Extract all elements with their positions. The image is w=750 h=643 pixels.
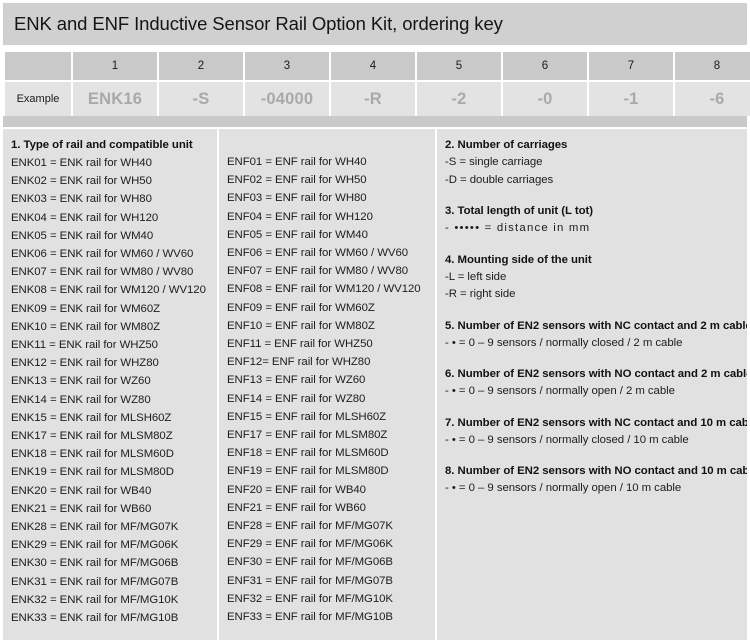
- section-separator-band: [3, 116, 747, 127]
- panel-rail-type-enf: ENF01 = ENF rail for WH40ENF02 = ENF rai…: [219, 129, 435, 640]
- section-4-item-2: -R = right side: [445, 286, 747, 304]
- page-title: ENK and ENF Inductive Sensor Rail Option…: [3, 13, 503, 35]
- enk-rail-item: ENK17 = ENK rail for MLSM80Z: [11, 427, 217, 445]
- enk-rail-item: ENK29 = ENK rail for MF/MG06K: [11, 536, 217, 554]
- enk-rail-item: ENK03 = ENK rail for WH80: [11, 190, 217, 208]
- enk-rail-item: ENK13 = ENK rail for WZ60: [11, 372, 217, 390]
- enk-rail-item: ENK08 = ENK rail for WM120 / WV120: [11, 281, 217, 299]
- enk-rail-item: ENK30 = ENK rail for MF/MG06B: [11, 554, 217, 572]
- enf-rail-item: ENF19 = ENF rail for MLSM80D: [227, 462, 435, 480]
- section-2-item-2: -D = double carriages: [445, 172, 747, 190]
- table-header-row: 1 2 3 4 5 6 7 8: [5, 52, 750, 80]
- enf-rail-item: ENF28 = ENF rail for MF/MG07K: [227, 517, 435, 535]
- enf-rail-item: ENF01 = ENF rail for WH40: [227, 153, 435, 171]
- enk-rail-item: ENK02 = ENK rail for WH50: [11, 172, 217, 190]
- enk-rail-item: ENK32 = ENK rail for MF/MG10K: [11, 591, 217, 609]
- section-1-heading: 1. Type of rail and compatible unit: [11, 137, 217, 153]
- enf-rail-item: ENF07 = ENF rail for WM80 / WV80: [227, 262, 435, 280]
- enf-rail-item: ENF11 = ENF rail for WHZ50: [227, 335, 435, 353]
- enk-rail-item: ENK14 = ENK rail for WZ80: [11, 391, 217, 409]
- section-5-item-1: - • = 0 – 9 sensors / normally closed / …: [445, 335, 747, 353]
- enf-item-list: ENF01 = ENF rail for WH40ENF02 = ENF rai…: [227, 153, 435, 626]
- enk-rail-item: ENK06 = ENK rail for WM60 / WV60: [11, 245, 217, 263]
- section-2-heading: 2. Number of carriages: [445, 137, 747, 153]
- enk-rail-item: ENK01 = ENK rail for WH40: [11, 154, 217, 172]
- enk-rail-item: ENK31 = ENK rail for MF/MG07B: [11, 573, 217, 591]
- example-value-6: -0: [503, 82, 587, 116]
- enf-rail-item: ENF06 = ENF rail for WM60 / WV60: [227, 244, 435, 262]
- enk-item-list: ENK01 = ENK rail for WH40ENK02 = ENK rai…: [11, 154, 217, 627]
- enf-rail-item: ENF10 = ENF rail for WM80Z: [227, 317, 435, 335]
- example-value-7: -1: [589, 82, 673, 116]
- section-7-heading: 7. Number of EN2 sensors with NC contact…: [445, 415, 747, 431]
- example-value-8: -6: [675, 82, 750, 116]
- title-band: ENK and ENF Inductive Sensor Rail Option…: [3, 3, 747, 45]
- enf-rail-item: ENF09 = ENF rail for WM60Z: [227, 299, 435, 317]
- enf-rail-item: ENF15 = ENF rail for MLSH60Z: [227, 408, 435, 426]
- example-value-2: -S: [159, 82, 243, 116]
- enk-rail-item: ENK11 = ENK rail for WHZ50: [11, 336, 217, 354]
- example-value-5: -2: [417, 82, 501, 116]
- enf-rail-item: ENF29 = ENF rail for MF/MG06K: [227, 535, 435, 553]
- column-number-4: 4: [331, 52, 415, 80]
- section-8-item-1: - • = 0 – 9 sensors / normally open / 10…: [445, 480, 747, 498]
- enk-rail-item: ENK33 = ENK rail for MF/MG10B: [11, 609, 217, 627]
- column-number-5: 5: [417, 52, 501, 80]
- enf-rail-item: ENF17 = ENF rail for MLSM80Z: [227, 426, 435, 444]
- enf-rail-item: ENF03 = ENF rail for WH80: [227, 189, 435, 207]
- enk-rail-item: ENK18 = ENK rail for MLSM60D: [11, 445, 217, 463]
- enf-rail-item: ENF02 = ENF rail for WH50: [227, 171, 435, 189]
- column-number-3: 3: [245, 52, 329, 80]
- enk-rail-item: ENK15 = ENK rail for MLSH60Z: [11, 409, 217, 427]
- ordering-key-table: 1 2 3 4 5 6 7 8 Example ENK16 -S -04000 …: [3, 50, 750, 118]
- enk-rail-item: ENK12 = ENK rail for WHZ80: [11, 354, 217, 372]
- section-7-item-1: - • = 0 – 9 sensors / normally closed / …: [445, 432, 747, 450]
- example-row-label: Example: [5, 82, 71, 116]
- enk-rail-item: ENK05 = ENK rail for WM40: [11, 227, 217, 245]
- legend-body: 1. Type of rail and compatible unit ENK0…: [3, 129, 747, 640]
- section-3-heading: 3. Total length of unit (L tot): [445, 203, 747, 219]
- enf-rail-item: ENF18 = ENF rail for MLSM60D: [227, 444, 435, 462]
- enf-rail-item: ENF21 = ENF rail for WB60: [227, 499, 435, 517]
- enf-rail-item: ENF31 = ENF rail for MF/MG07B: [227, 572, 435, 590]
- section-4-heading: 4. Mounting side of the unit: [445, 252, 747, 268]
- table-example-row: Example ENK16 -S -04000 -R -2 -0 -1 -6: [5, 82, 750, 116]
- enk-rail-item: ENK09 = ENK rail for WM60Z: [11, 300, 217, 318]
- section-8-heading: 8. Number of EN2 sensors with NO contact…: [445, 463, 747, 479]
- section-6-heading: 6. Number of EN2 sensors with NO contact…: [445, 366, 747, 382]
- enf-rail-item: ENF20 = ENF rail for WB40: [227, 481, 435, 499]
- section-3-item-1: - ••••• = distance in mm: [445, 220, 747, 238]
- example-value-1: ENK16: [73, 82, 157, 116]
- enf-rail-item: ENF33 = ENF rail for MF/MG10B: [227, 608, 435, 626]
- enk-rail-item: ENK21 = ENK rail for WB60: [11, 500, 217, 518]
- enf-rail-item: ENF08 = ENF rail for WM120 / WV120: [227, 280, 435, 298]
- panel-rail-type-enk: 1. Type of rail and compatible unit ENK0…: [3, 129, 217, 640]
- enk-rail-item: ENK04 = ENK rail for WH120: [11, 209, 217, 227]
- panel-option-sections: 2. Number of carriages -S = single carri…: [437, 129, 747, 640]
- enf-rail-item: ENF05 = ENF rail for WM40: [227, 226, 435, 244]
- column-number-6: 6: [503, 52, 587, 80]
- column-number-8: 8: [675, 52, 750, 80]
- enf-rail-item: ENF14 = ENF rail for WZ80: [227, 390, 435, 408]
- enk-rail-item: ENK19 = ENK rail for MLSM80D: [11, 463, 217, 481]
- enf-rail-item: ENF13 = ENF rail for WZ60: [227, 371, 435, 389]
- enk-rail-item: ENK07 = ENK rail for WM80 / WV80: [11, 263, 217, 281]
- example-value-3: -04000: [245, 82, 329, 116]
- enk-rail-item: ENK10 = ENK rail for WM80Z: [11, 318, 217, 336]
- section-5-heading: 5. Number of EN2 sensors with NC contact…: [445, 318, 747, 334]
- example-value-4: -R: [331, 82, 415, 116]
- enf-rail-item: ENF04 = ENF rail for WH120: [227, 208, 435, 226]
- enk-rail-item: ENK20 = ENK rail for WB40: [11, 482, 217, 500]
- section-6-item-1: - • = 0 – 9 sensors / normally open / 2 …: [445, 383, 747, 401]
- ordering-key-sheet: ENK and ENF Inductive Sensor Rail Option…: [0, 0, 750, 643]
- section-2-item-1: -S = single carriage: [445, 154, 747, 172]
- enf-heading-spacer: [227, 137, 435, 153]
- enf-rail-item: ENF12= ENF rail for WHZ80: [227, 353, 435, 371]
- enf-rail-item: ENF30 = ENF rail for MF/MG06B: [227, 553, 435, 571]
- column-number-2: 2: [159, 52, 243, 80]
- enf-rail-item: ENF32 = ENF rail for MF/MG10K: [227, 590, 435, 608]
- header-corner-cell: [5, 52, 71, 80]
- enk-rail-item: ENK28 = ENK rail for MF/MG07K: [11, 518, 217, 536]
- column-number-7: 7: [589, 52, 673, 80]
- column-number-1: 1: [73, 52, 157, 80]
- section-4-item-1: -L = left side: [445, 269, 747, 287]
